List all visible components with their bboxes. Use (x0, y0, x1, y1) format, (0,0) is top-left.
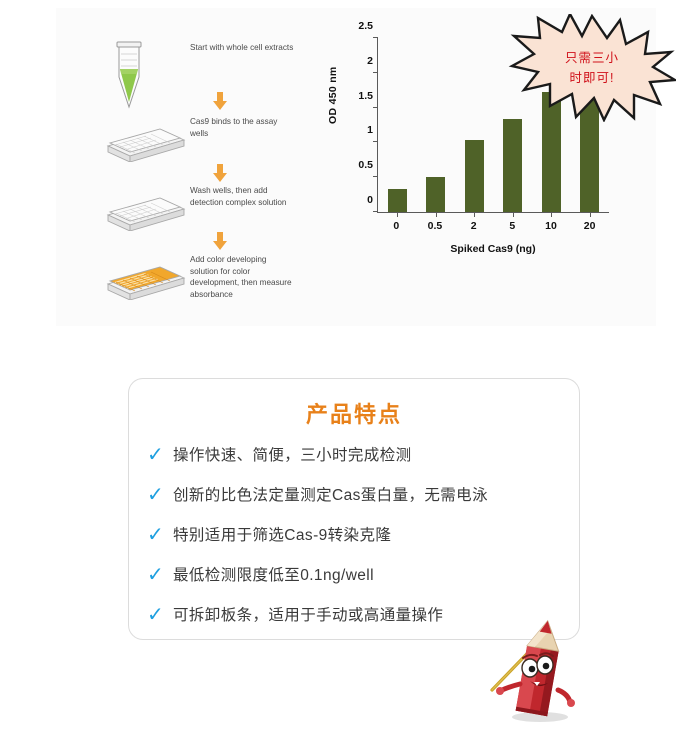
chart-y-tick: 2 (367, 55, 373, 67)
chart-x-tick: 0 (377, 220, 416, 232)
product-features-panel: 产品特点 ✓操作快速、简便，三小时完成检测✓创新的比色法定量测定Cas蛋白量，无… (128, 378, 580, 640)
feature-text: 特别适用于筛选Cas-9转染克隆 (173, 523, 391, 545)
chart-x-tick: 5 (493, 220, 532, 232)
check-icon: ✓ (147, 604, 173, 624)
chart-x-tick: 2 (454, 220, 493, 232)
chart-x-tick-mark (590, 212, 591, 217)
chart-bar (388, 189, 407, 212)
chart-x-tick-mark (551, 212, 552, 217)
microplate-white-icon (106, 183, 186, 236)
feature-text: 创新的比色法定量测定Cas蛋白量，无需电泳 (173, 483, 488, 505)
check-icon: ✓ (147, 484, 173, 504)
chart-x-tick: 10 (532, 220, 571, 232)
workflow-step-2-label: Cas9 binds to the assay wells (190, 116, 294, 139)
workflow-step-1-label: Start with whole cell extracts (190, 42, 294, 54)
starburst-shape-icon (508, 14, 676, 122)
feature-list-item: ✓操作快速、简便，三小时完成检测 (147, 435, 579, 472)
chart-y-tick: 1 (367, 124, 373, 136)
chart-y-tick: 2.5 (358, 20, 373, 32)
down-arrow-icon (212, 92, 228, 110)
chart-y-tick: 0.5 (358, 159, 373, 171)
chart-y-tick: 0 (367, 194, 373, 206)
chart-x-tick: 0.5 (416, 220, 455, 232)
chart-y-axis-label: OD 450 nm (327, 66, 339, 124)
feature-text: 可拆卸板条，适用于手动或高通量操作 (173, 603, 443, 625)
check-icon: ✓ (147, 564, 173, 584)
features-title: 产品特点 (129, 397, 579, 429)
down-arrow-icon (212, 232, 228, 250)
down-arrow-icon (212, 164, 228, 182)
feature-list-item: ✓特别适用于筛选Cas-9转染克隆 (147, 515, 579, 552)
feature-text: 最低检测限度低至0.1ng/well (173, 563, 374, 585)
workflow-step-4-label: Add color developing solution for color … (190, 254, 294, 300)
chart-x-tick-labels: 00.5251020 (377, 220, 609, 232)
chart-bar-cell (455, 38, 493, 212)
chart-x-tick-mark (436, 212, 437, 217)
assay-workflow-diagram: Start with whole cell extracts (106, 40, 296, 300)
feature-list-item: ✓创新的比色法定量测定Cas蛋白量，无需电泳 (147, 475, 579, 512)
tube-green-extract-icon (106, 40, 186, 117)
chart-y-tick: 1.5 (358, 90, 373, 102)
chart-bar (426, 177, 445, 212)
check-icon: ✓ (147, 524, 173, 544)
microplate-orange-icon (106, 252, 186, 305)
pencil-mascot-icon (480, 618, 600, 723)
chart-bar (503, 119, 522, 212)
check-icon: ✓ (147, 444, 173, 464)
chart-bar (465, 140, 484, 212)
chart-x-tick-mark (397, 212, 398, 217)
feature-text: 操作快速、简便，三小时完成检测 (173, 443, 412, 465)
features-list: ✓操作快速、简便，三小时完成检测✓创新的比色法定量测定Cas蛋白量，无需电泳✓特… (129, 435, 579, 632)
chart-x-tick-mark (474, 212, 475, 217)
chart-x-axis-label: Spiked Cas9 (ng) (377, 243, 609, 255)
top-illustration-panel: Start with whole cell extracts (56, 8, 656, 326)
chart-x-tick: 20 (570, 220, 609, 232)
chart-bar-cell (378, 38, 416, 212)
starburst-callout: 只需三小 时即可! (508, 14, 676, 122)
feature-list-item: ✓最低检测限度低至0.1ng/well (147, 555, 579, 592)
microplate-white-icon (106, 114, 186, 167)
workflow-step-3-label: Wash wells, then add detection complex s… (190, 185, 294, 208)
chart-x-tick-mark (513, 212, 514, 217)
chart-bar-cell (417, 38, 455, 212)
